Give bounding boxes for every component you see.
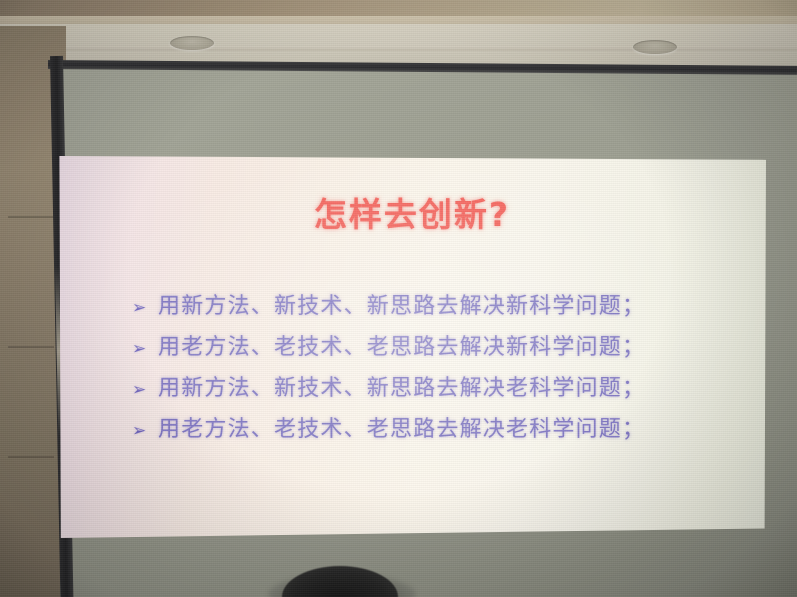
- bullet-item: ➢ 用新方法、新技术、新思路去解决新科学问题；: [132, 294, 736, 320]
- photo-frame: 怎样去创新? ➢ 用新方法、新技术、新思路去解决新科学问题； ➢ 用老方法、老技…: [0, 0, 797, 597]
- bullet-item: ➢ 用新方法、新技术、新思路去解决老科学问题；: [132, 376, 736, 402]
- wall-seam: [8, 346, 54, 348]
- wall-seam: [8, 216, 54, 218]
- bullet-item: ➢ 用老方法、老技术、老思路去解决新科学问题；: [132, 335, 736, 361]
- soffit-edge: [0, 46, 797, 51]
- projection-slide: 怎样去创新? ➢ 用新方法、新技术、新思路去解决新科学问题； ➢ 用老方法、老技…: [58, 156, 766, 538]
- bullet-arrow-icon: ➢: [132, 382, 158, 399]
- slide-title: 怎样去创新?: [58, 188, 766, 236]
- bullet-arrow-icon: ➢: [132, 423, 158, 440]
- bullet-text: 用老方法、老技术、老思路去解决新科学问题；: [158, 335, 645, 361]
- bullet-arrow-icon: ➢: [132, 300, 158, 317]
- wall-seam: [8, 456, 54, 458]
- bullet-text: 用老方法、老技术、老思路去解决老科学问题；: [158, 417, 645, 443]
- bullet-item: ➢ 用老方法、老技术、老思路去解决老科学问题；: [132, 417, 736, 443]
- bullet-text: 用新方法、新技术、新思路去解决新科学问题；: [158, 294, 645, 320]
- recessed-light-left-icon: [170, 36, 214, 50]
- ceiling-strip: [0, 0, 797, 26]
- recessed-light-right-icon: [633, 40, 677, 54]
- bullet-text: 用新方法、新技术、新思路去解决老科学问题；: [158, 376, 645, 402]
- bullet-arrow-icon: ➢: [132, 341, 158, 358]
- slide-bullet-list: ➢ 用新方法、新技术、新思路去解决新科学问题； ➢ 用老方法、老技术、老思路去解…: [132, 294, 736, 458]
